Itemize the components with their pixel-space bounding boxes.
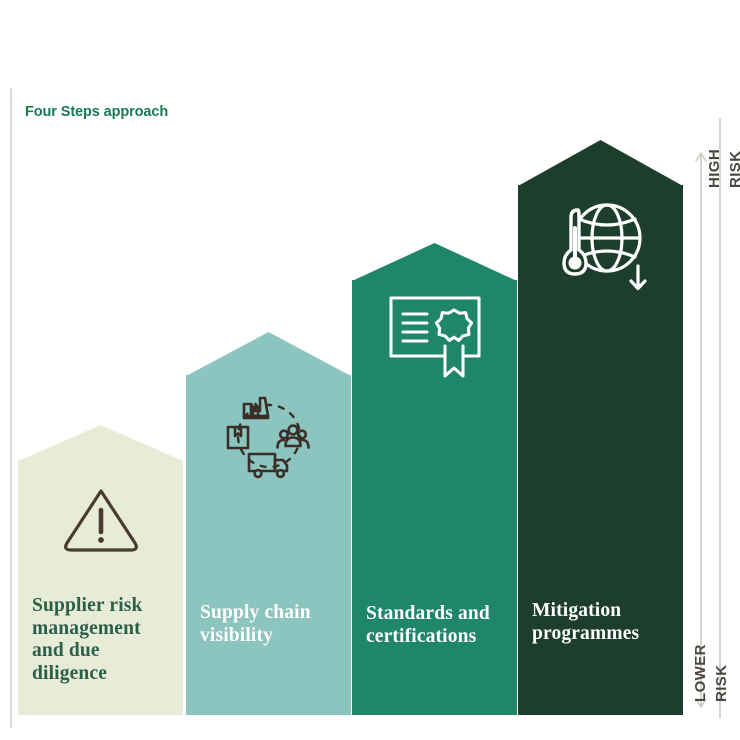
axis-label-lower-risk: RISK [713,665,730,702]
step-bar-2-peak [186,332,351,376]
step-bar-4[interactable]: Mitigation programmes [518,140,683,715]
title-left-rule [10,88,12,728]
axis-label-high-risk: RISK [727,151,740,188]
step-bar-3-peak [352,243,517,281]
globe-thermometer-icon [545,188,657,300]
step-bar-3-label: Standards and certifications [366,603,509,648]
step-bar-1[interactable]: Supplier risk management and due diligen… [18,425,183,715]
infographic-canvas: Four Steps approach Supplier risk manage… [0,0,740,740]
risk-axis-line [719,118,721,718]
step-bar-2[interactable]: Supply chain visibility [186,332,351,715]
certificate-icon [383,288,487,380]
risk-axis-arrow [694,150,708,710]
step-bar-4-peak [518,140,683,186]
step-bar-2-label: Supply chain visibility [200,602,343,647]
warning-triangle-icon [55,473,147,565]
step-bar-1-peak [18,425,183,461]
axis-label-lower: LOWER [692,644,709,702]
step-bar-3[interactable]: Standards and certifications [352,243,517,715]
page-title: Four Steps approach [25,104,168,120]
supply-chain-cycle-icon [217,384,321,488]
step-bar-1-label: Supplier risk management and due diligen… [32,595,175,685]
step-bar-4-label: Mitigation programmes [532,600,675,645]
axis-label-high: HIGH [706,149,723,188]
